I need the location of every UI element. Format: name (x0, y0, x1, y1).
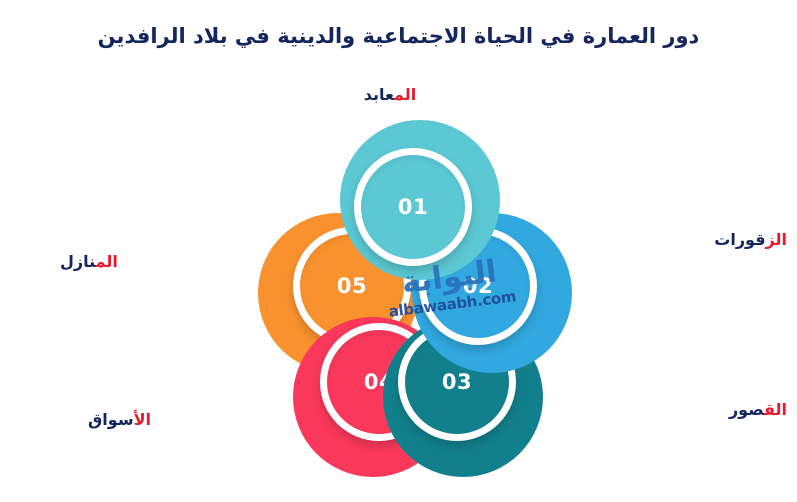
label-temples-rest: عابد (364, 85, 394, 104)
label-palaces-rest: صور (729, 400, 764, 419)
petal-01[interactable]: 01 (340, 120, 500, 280)
label-ziggurats-rest: قورات (714, 230, 765, 249)
label-markets: الأسواق (88, 410, 228, 429)
petal-03-number: 03 (442, 370, 472, 394)
petal-diagram: 01 02 03 04 (255, 120, 575, 480)
label-houses-rest: نازل (60, 252, 96, 271)
label-temples: المعابد (310, 85, 470, 104)
petal-01-inner-circle[interactable]: 01 (361, 155, 465, 259)
label-houses-highlight: الم (96, 252, 118, 271)
label-markets-rest: سواق (88, 410, 134, 429)
label-ziggurats: الزقورات (637, 230, 787, 249)
petal-01-number: 01 (398, 195, 428, 219)
label-palaces: القصور (647, 400, 787, 419)
label-palaces-highlight: الق (764, 400, 787, 419)
label-markets-highlight: الأ (134, 410, 151, 429)
label-temples-highlight: الم (394, 85, 416, 104)
label-ziggurats-highlight: الز (766, 230, 787, 249)
infographic-canvas: دور العمارة في الحياة الاجتماعية والديني… (0, 0, 797, 502)
label-houses: المنازل (60, 252, 200, 271)
page-title: دور العمارة في الحياة الاجتماعية والديني… (0, 22, 797, 50)
